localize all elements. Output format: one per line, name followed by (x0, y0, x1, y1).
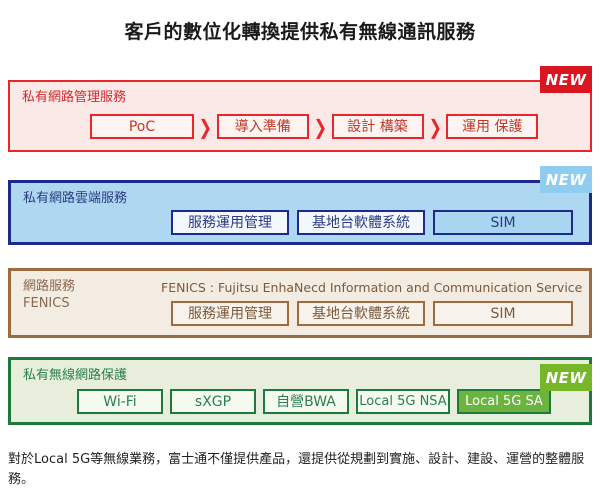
fenics-acronym-note: FENICS : Fujitsu EnhaNecd Information an… (161, 280, 582, 295)
chip-operate-protect[interactable]: 運用 保護 (446, 114, 538, 139)
chip-row-network-service: 服務運用管理 基地台軟體系統 SIM (171, 301, 573, 326)
new-badge-private-wireless: NEW (540, 364, 592, 391)
chip-sim-fenics[interactable]: SIM (433, 301, 573, 326)
chip-poc[interactable]: PoC (90, 114, 194, 139)
chip-base-station-software-fenics[interactable]: 基地台軟體系統 (297, 301, 425, 326)
chevron-right-icon-3: ❯ (426, 117, 444, 137)
section-private-wireless: 私有無線網路保護 Wi-Fi sXGP 自營BWA Local 5G NSA L… (8, 357, 592, 425)
chip-sxgp[interactable]: sXGP (170, 389, 256, 414)
section-private-cloud: 私有網路雲端服務 服務運用管理 基地台軟體系統 SIM (8, 180, 592, 245)
section-network-service-fenics: 網路服務 FENICS FENICS : Fujitsu EnhaNecd In… (8, 268, 592, 338)
chevron-right-icon-1: ❯ (196, 117, 214, 137)
section-label-network-service-fenics: 網路服務 FENICS (23, 278, 75, 312)
section-label-private-cloud: 私有網路雲端服務 (23, 190, 127, 207)
chip-row-private-cloud: 服務運用管理 基地台軟體系統 SIM (171, 210, 573, 235)
footer-note: 對於Local 5G等無線業務，富士通不僅提供產品，還提供從規劃到實施、設計、建… (8, 450, 592, 490)
section-private-network-mgmt: 私有網路管理服務 PoC ❯ 導入準備 ❯ 設計 構築 ❯ 運用 保護 (8, 80, 592, 152)
page-title: 客戶的數位化轉換提供私有無線通訊服務 (0, 19, 600, 45)
section-label-private-network-mgmt: 私有網路管理服務 (22, 89, 126, 106)
chip-sim-cloud[interactable]: SIM (433, 210, 573, 235)
chip-private-bwa[interactable]: 自營BWA (263, 389, 349, 414)
chip-base-station-software-cloud[interactable]: 基地台軟體系統 (297, 210, 425, 235)
chip-service-operation-mgmt-cloud[interactable]: 服務運用管理 (171, 210, 289, 235)
chip-row-private-wireless: Wi-Fi sXGP 自營BWA Local 5G NSA Local 5G S… (77, 389, 551, 414)
new-badge-private-cloud: NEW (540, 166, 592, 193)
new-badge-private-network-mgmt: NEW (540, 66, 592, 93)
chevron-right-icon-2: ❯ (311, 117, 329, 137)
chip-local-5g-nsa[interactable]: Local 5G NSA (356, 389, 450, 414)
chip-local-5g-sa[interactable]: Local 5G SA (457, 389, 551, 414)
chip-wifi[interactable]: Wi-Fi (77, 389, 163, 414)
chip-introduction-prep[interactable]: 導入準備 (217, 114, 309, 139)
section-label-private-wireless: 私有無線網路保護 (23, 367, 127, 384)
chip-design-build[interactable]: 設計 構築 (332, 114, 424, 139)
chip-row-private-network-mgmt: PoC ❯ 導入準備 ❯ 設計 構築 ❯ 運用 保護 (90, 114, 538, 139)
chip-service-operation-mgmt-fenics[interactable]: 服務運用管理 (171, 301, 289, 326)
